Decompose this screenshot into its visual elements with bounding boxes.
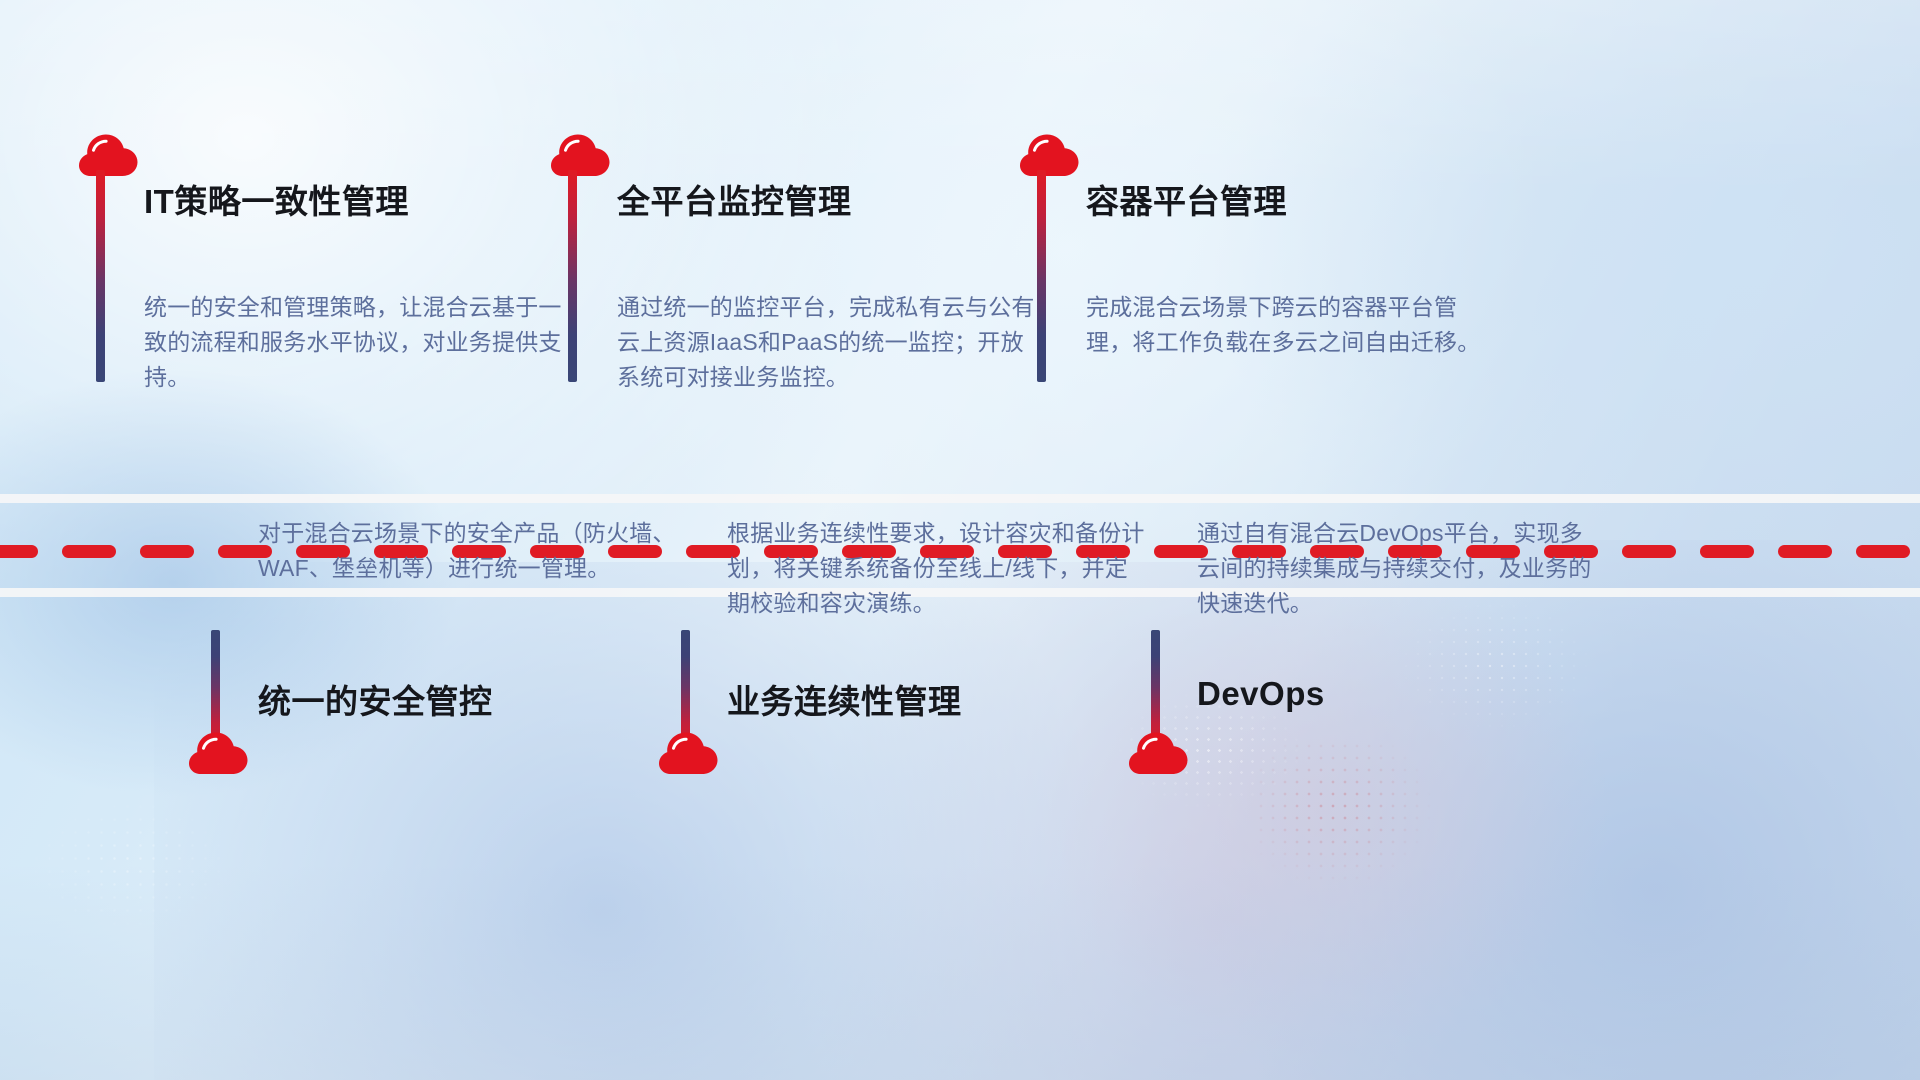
road-dash-segment — [1700, 545, 1754, 558]
road-dash-segment — [1856, 545, 1910, 558]
marker-title: 全平台监控管理 — [617, 175, 852, 223]
cloud-icon — [658, 731, 720, 775]
marker-title: DevOps — [1197, 675, 1325, 713]
marker-title: 业务连续性管理 — [727, 675, 962, 723]
marker-title: IT策略一致性管理 — [144, 175, 409, 223]
marker-description: 根据业务连续性要求，设计容灾和备份计划，将关键系统备份至线上/线下，并定期校验和… — [727, 516, 1147, 621]
cloud-icon — [1128, 731, 1190, 775]
marker-title: 统一的安全管控 — [258, 675, 493, 723]
road-dash-segment — [1622, 545, 1676, 558]
marker-stem — [1037, 170, 1046, 382]
road-dash-segment — [0, 545, 38, 558]
cloud-icon — [188, 731, 250, 775]
cloud-icon — [550, 133, 612, 177]
road-dash-segment — [140, 545, 194, 558]
marker-description: 对于混合云场景下的安全产品（防火墙、WAF、堡垒机等）进行统一管理。 — [258, 516, 678, 586]
marker-title: 容器平台管理 — [1086, 175, 1287, 223]
marker-description: 通过自有混合云DevOps平台，实现多云间的持续集成与持续交付，及业务的快速迭代… — [1197, 516, 1597, 621]
cloud-icon — [1019, 133, 1081, 177]
marker-description: 完成混合云场景下跨云的容器平台管理，将工作负载在多云之间自由迁移。 — [1086, 290, 1486, 360]
marker-description: 统一的安全和管理策略，让混合云基于一致的流程和服务水平协议，对业务提供支持。 — [144, 290, 564, 395]
cloud-icon — [78, 133, 140, 177]
marker-stem — [96, 170, 105, 382]
road-dash-segment — [1778, 545, 1832, 558]
infographic-canvas: IT策略一致性管理 统一的安全和管理策略，让混合云基于一致的流程和服务水平协议，… — [0, 0, 1920, 1080]
marker-stem — [568, 170, 577, 382]
road-edge-line-top — [0, 494, 1920, 503]
marker-description: 通过统一的监控平台，完成私有云与公有云上资源IaaS和PaaS的统一监控；开放系… — [617, 290, 1037, 395]
road-dash-segment — [62, 545, 116, 558]
